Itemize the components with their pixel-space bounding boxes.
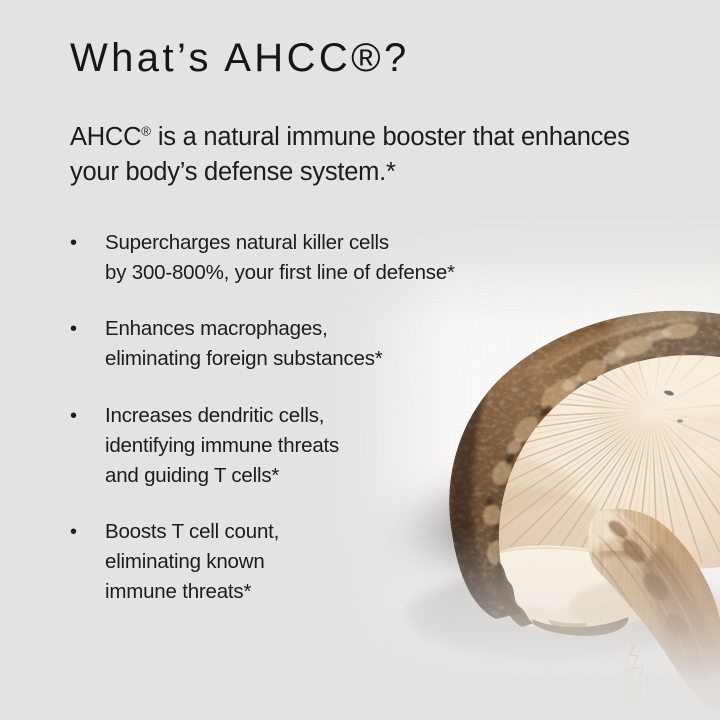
list-item-text: Enhances macrophages, eliminating foreig… <box>105 314 383 374</box>
list-item: • Supercharges natural killer cells by 3… <box>70 228 590 288</box>
subtitle: AHCC® is a natural immune booster that e… <box>70 120 630 190</box>
list-item-text: Increases dendritic cells, identifying i… <box>105 401 339 491</box>
bullet-marker-icon: • <box>70 401 105 491</box>
page-title: What’s AHCC®? <box>70 36 410 81</box>
bullet-marker-icon: • <box>70 228 105 288</box>
bullet-marker-icon: • <box>70 517 105 607</box>
bullet-marker-icon: • <box>70 314 105 374</box>
benefits-list: • Supercharges natural killer cells by 3… <box>70 228 590 607</box>
subtitle-text: is a natural immune booster that enhance… <box>70 123 630 186</box>
list-item: • Increases dendritic cells, identifying… <box>70 401 590 491</box>
brand-name: AHCC <box>70 123 141 151</box>
registered-mark-icon: ® <box>141 123 151 138</box>
list-item-text: Supercharges natural killer cells by 300… <box>105 228 455 288</box>
stem-fringe <box>622 639 662 720</box>
list-item: • Boosts T cell count, eliminating known… <box>70 517 590 607</box>
mushroom-stem <box>580 495 720 720</box>
stem-shadow <box>626 572 720 653</box>
list-item-text: Boosts T cell count, eliminating known i… <box>105 517 279 607</box>
list-item: • Enhances macrophages, eliminating fore… <box>70 314 590 374</box>
